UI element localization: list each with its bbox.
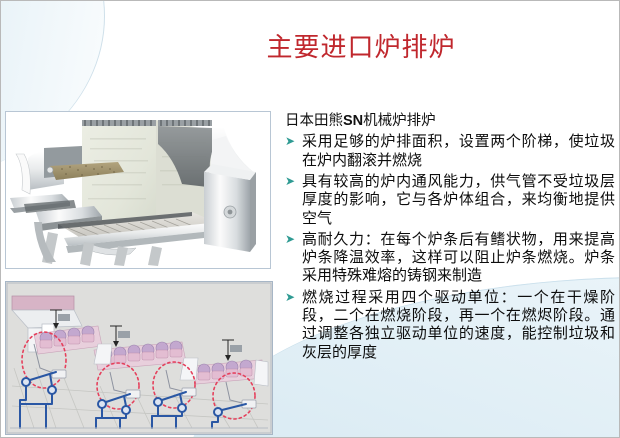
bullet-item-4-text: 燃烧过程采用四个驱动单位：一个在干燥阶段，二个在燃烧阶段，再一个在燃烬阶段。通过… bbox=[302, 289, 615, 362]
sub-heading-prefix: 日本田熊 bbox=[285, 113, 343, 129]
arrow-bullet-icon: ➤ bbox=[285, 133, 302, 147]
sub-heading-suffix: 机械炉排炉 bbox=[363, 113, 436, 129]
bullet-item-3: ➤ 高耐久力：在每个炉条后有鳍状物，用来提高炉条降温效率，这样可以阻止炉条燃烧。… bbox=[285, 231, 615, 286]
slide: 主要进口炉排炉 bbox=[0, 0, 620, 438]
bullet-item-4: ➤ 燃烧过程采用四个驱动单位：一个在干燥阶段，二个在燃烧阶段，再一个在燃烬阶段。… bbox=[285, 289, 615, 362]
grate-furnace-3d-render bbox=[5, 111, 271, 269]
bullet-item-3-text: 高耐久力：在每个炉条后有鳍状物，用来提高炉条降温效率，这样可以阻止炉条燃烧。炉条… bbox=[302, 231, 615, 286]
bullet-item-1: ➤ 采用足够的炉排面积，设置两个阶梯，使垃圾在炉内翻滚并燃烧 bbox=[285, 133, 615, 170]
arrow-bullet-icon: ➤ bbox=[285, 289, 302, 303]
grate-drive-unit-schematic bbox=[5, 281, 273, 435]
bullet-item-2: ➤ 具有较高的炉内通风能力，供气管不受垃圾层厚度的影响，它与各炉体组合，来均衡地… bbox=[285, 173, 615, 228]
sub-heading-model-code: SN bbox=[343, 113, 363, 129]
schematic-illustration bbox=[6, 282, 272, 434]
bullet-item-2-text: 具有较高的炉内通风能力，供气管不受垃圾层厚度的影响，它与各炉体组合，来均衡地提供… bbox=[302, 173, 615, 228]
arrow-bullet-icon: ➤ bbox=[285, 173, 302, 187]
content-text-column: 日本田熊SN机械炉排炉 ➤ 采用足够的炉排面积，设置两个阶梯，使垃圾在炉内翻滚并… bbox=[285, 113, 615, 365]
sub-heading: 日本田熊SN机械炉排炉 bbox=[285, 113, 615, 130]
bullet-item-1-text: 采用足够的炉排面积，设置两个阶梯，使垃圾在炉内翻滚并燃烧 bbox=[302, 133, 615, 170]
arrow-bullet-icon: ➤ bbox=[285, 231, 302, 245]
render-illustration bbox=[6, 112, 270, 268]
page-title: 主要进口炉排炉 bbox=[151, 27, 571, 64]
